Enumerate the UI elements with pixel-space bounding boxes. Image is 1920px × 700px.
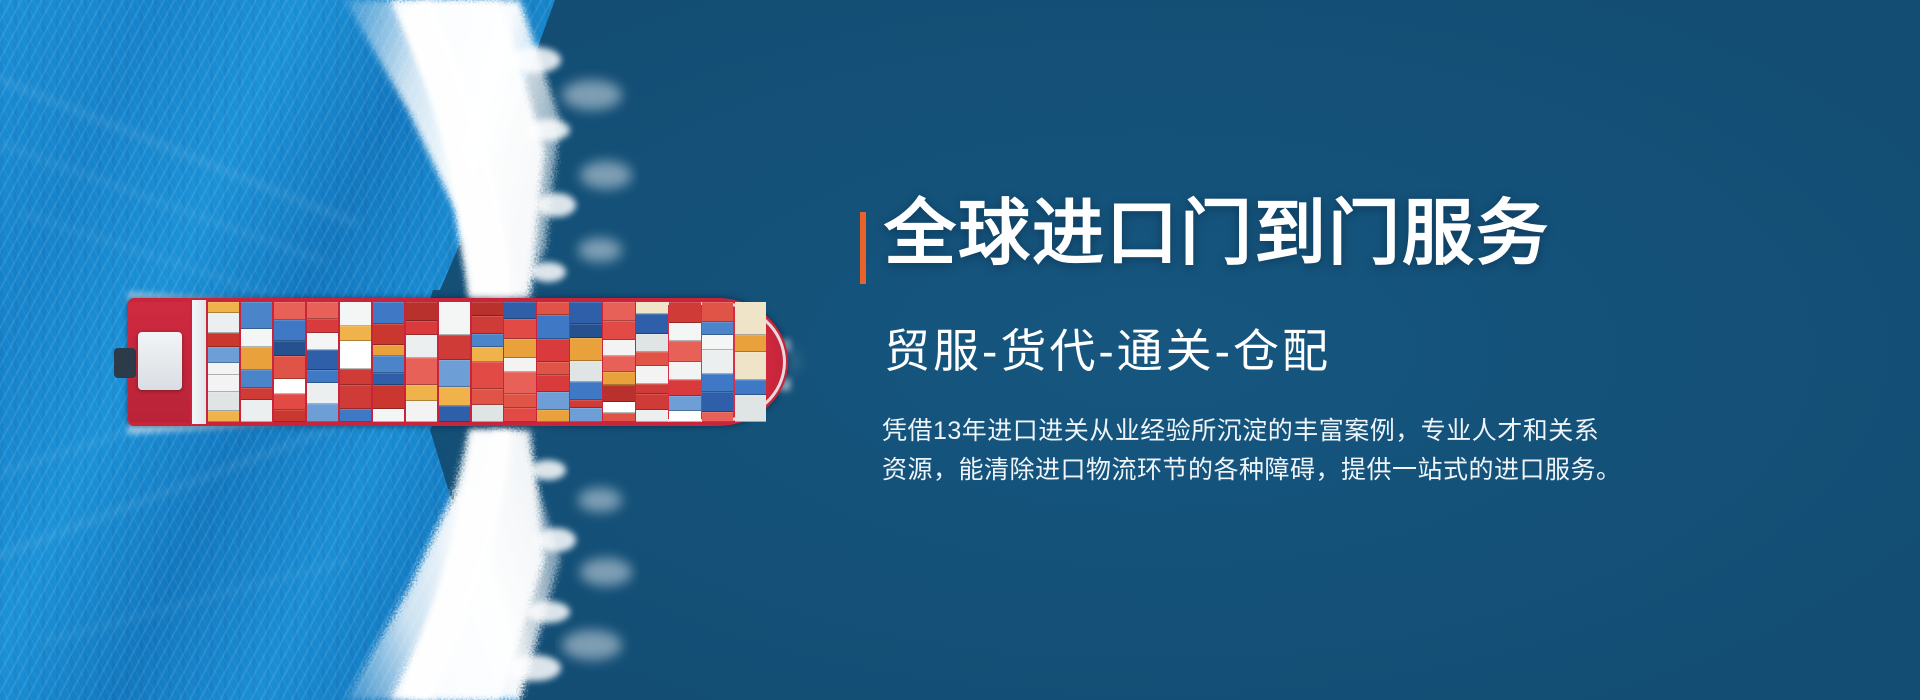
cargo-container (373, 345, 404, 356)
cargo-container (669, 362, 700, 380)
container-bay (439, 302, 470, 422)
cargo-container (472, 302, 503, 316)
banner-subheadline: 贸服-货代-通关-仓配 (884, 328, 1331, 374)
cargo-container (307, 302, 338, 319)
cargo-container (537, 375, 568, 392)
ship-accommodation-wall (192, 300, 206, 424)
cargo-container (241, 400, 272, 422)
cargo-container (636, 352, 667, 366)
cargo-container (307, 319, 338, 333)
cargo-container (472, 316, 503, 334)
cargo-container (570, 400, 601, 408)
ship-bridge-superstructure (138, 332, 182, 390)
cargo-container (307, 370, 338, 383)
container-bay (669, 302, 700, 422)
container-bay (570, 302, 601, 422)
container-bay (537, 302, 568, 422)
cargo-container (373, 373, 404, 385)
banner-headline: 全球进口门到门服务 (884, 198, 1550, 270)
cargo-container (636, 302, 667, 314)
container-bay (504, 302, 535, 422)
cargo-container (735, 380, 766, 395)
cargo-container (307, 404, 338, 422)
cargo-container (373, 302, 404, 324)
cargo-container (537, 315, 568, 339)
cargo-container (307, 350, 338, 370)
container-bay (241, 302, 272, 422)
container-bay (406, 302, 437, 422)
cargo-container (274, 394, 305, 410)
banner-text-block: 全球进口门到门服务 贸服-货代-通关-仓配 凭借13年进口进关从业经验所沉淀的丰… (860, 0, 1860, 700)
cargo-container (603, 372, 634, 385)
cargo-container (504, 339, 535, 358)
cargo-container (570, 302, 601, 324)
cargo-container (636, 334, 667, 352)
cargo-container (274, 302, 305, 320)
container-bay (373, 302, 404, 422)
cargo-container (504, 394, 535, 408)
ship-funnel (114, 348, 136, 378)
cargo-container (208, 302, 239, 313)
container-bay (340, 302, 371, 422)
banner-description: 凭借13年进口进关从业经验所沉淀的丰富案例，专业人才和关系 资源，能清除进口物流… (882, 412, 1802, 490)
cargo-container (735, 352, 766, 380)
cargo-container (208, 411, 239, 422)
cargo-container (241, 388, 272, 400)
cargo-container (504, 408, 535, 422)
cargo-container (208, 392, 239, 411)
cargo-container (439, 406, 470, 422)
cargo-container (636, 410, 667, 422)
cargo-container (406, 401, 437, 422)
cargo-container (603, 413, 634, 422)
cargo-container (636, 394, 667, 410)
cargo-container (373, 385, 404, 409)
cargo-container (537, 410, 568, 422)
cargo-container (274, 356, 305, 379)
cargo-container (406, 302, 437, 321)
cargo-container (603, 302, 634, 321)
cargo-container (472, 334, 503, 347)
cargo-container (340, 341, 371, 369)
cargo-container (702, 350, 733, 374)
container-ship (128, 298, 788, 426)
cargo-container (702, 322, 733, 335)
cargo-container (702, 335, 733, 350)
cargo-container (439, 387, 470, 406)
cargo-container (636, 384, 667, 394)
cargo-container (537, 392, 568, 410)
cargo-container (274, 410, 305, 422)
cargo-container (274, 341, 305, 356)
cargo-container (570, 338, 601, 361)
cargo-container (340, 369, 371, 385)
cargo-container (472, 405, 503, 422)
cargo-container (373, 324, 404, 345)
cargo-container (439, 335, 470, 360)
cargo-container (669, 323, 700, 341)
container-bay (472, 302, 503, 422)
cargo-container (735, 395, 766, 422)
container-bay (735, 302, 766, 422)
cargo-container (406, 385, 437, 401)
cargo-container (570, 408, 601, 422)
cargo-container (208, 347, 239, 363)
cargo-container (274, 320, 305, 341)
cargo-container (702, 302, 733, 322)
accent-bar (860, 212, 866, 284)
cargo-container (406, 358, 437, 385)
cargo-container (537, 362, 568, 375)
cargo-container (504, 372, 535, 394)
cargo-container (373, 356, 404, 373)
cargo-container (669, 341, 700, 362)
container-bay (208, 302, 239, 422)
container-bay (603, 302, 634, 422)
cargo-container (406, 335, 437, 358)
cargo-container (735, 335, 766, 352)
cargo-container (340, 326, 371, 341)
cargo-container (439, 302, 470, 335)
cargo-container (603, 402, 634, 413)
cargo-container (472, 362, 503, 389)
cargo-container (603, 340, 634, 356)
banner-description-line-1: 凭借13年进口进关从业经验所沉淀的丰富案例，专业人才和关系 (882, 412, 1802, 451)
cargo-container (439, 360, 470, 387)
cargo-container (504, 358, 535, 372)
cargo-container (340, 302, 371, 326)
cargo-container (208, 313, 239, 333)
cargo-container (472, 347, 503, 362)
cargo-container (537, 339, 568, 362)
cargo-container (702, 412, 733, 422)
cargo-container (504, 302, 535, 319)
container-bay (702, 302, 733, 422)
container-bay (274, 302, 305, 422)
cargo-container (603, 385, 634, 402)
cargo-container (241, 370, 272, 388)
container-bay (636, 302, 667, 422)
cargo-container (669, 411, 700, 422)
cargo-container (307, 333, 338, 350)
banner-description-line-2: 资源，能清除进口物流环节的各种障碍，提供一站式的进口服务。 (882, 451, 1802, 490)
cargo-container (241, 347, 272, 370)
cargo-container (274, 379, 305, 394)
cargo-container (307, 383, 338, 404)
hero-banner: 全球进口门到门服务 贸服-货代-通关-仓配 凭借13年进口进关从业经验所沉淀的丰… (0, 0, 1920, 700)
cargo-container (208, 363, 239, 375)
cargo-container (208, 375, 239, 392)
cargo-container (504, 319, 535, 339)
cargo-container (241, 302, 272, 329)
cargo-container (340, 409, 371, 422)
cargo-container (702, 392, 733, 412)
cargo-containers (208, 302, 768, 422)
cargo-container (472, 389, 503, 405)
cargo-container (537, 302, 568, 315)
cargo-container (603, 356, 634, 372)
cargo-container (570, 324, 601, 338)
cargo-container (702, 374, 733, 392)
cargo-container (669, 380, 700, 396)
cargo-container (373, 409, 404, 422)
cargo-container (636, 366, 667, 384)
cargo-container (406, 321, 437, 335)
cargo-container (241, 329, 272, 347)
cargo-container (340, 385, 371, 409)
cargo-container (669, 302, 700, 323)
cargo-container (735, 302, 766, 335)
cargo-container (570, 361, 601, 382)
cargo-container (208, 333, 239, 347)
cargo-container (603, 321, 634, 340)
container-bay (307, 302, 338, 422)
cargo-container (669, 396, 700, 411)
cargo-container (570, 382, 601, 400)
cargo-container (636, 314, 667, 334)
